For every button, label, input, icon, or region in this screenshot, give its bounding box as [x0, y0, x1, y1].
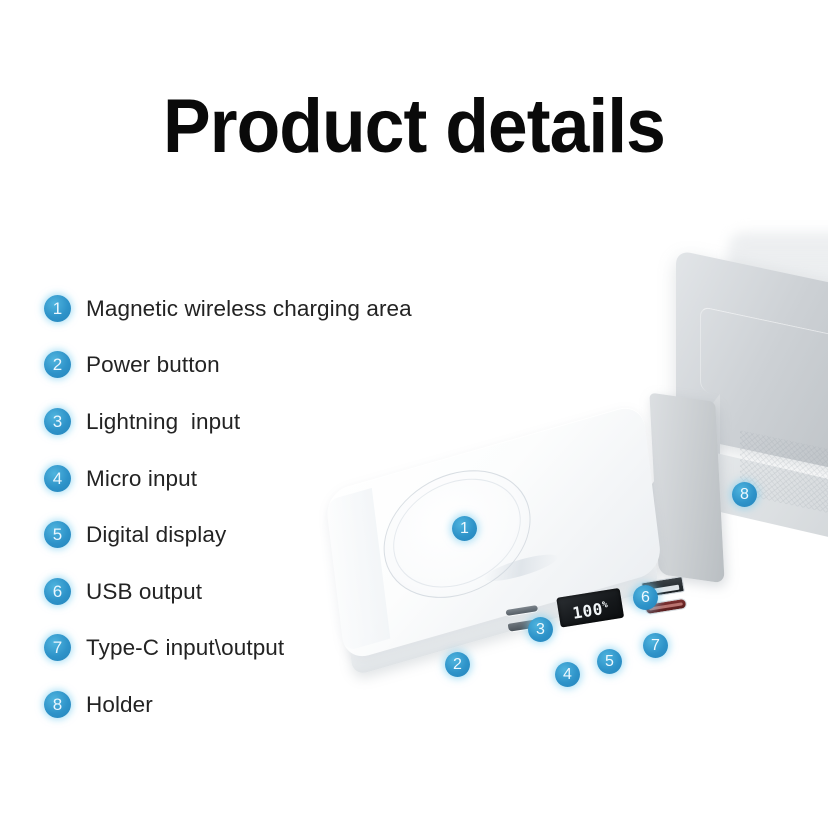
callout-badge-3: 3 — [528, 617, 553, 642]
callout-badge-7: 7 — [643, 633, 668, 658]
legend-badge-5: 5 — [44, 521, 71, 548]
legend-badge-4: 4 — [44, 465, 71, 492]
callout-badge-6: 6 — [633, 585, 658, 610]
legend-label-5: Digital display — [86, 521, 226, 548]
legend-badge-3: 3 — [44, 408, 71, 435]
legend-label-1: Magnetic wireless charging area — [86, 295, 412, 322]
power-bank-body — [325, 402, 666, 684]
legend-badge-8: 8 — [44, 691, 71, 718]
product-photo: 100% 1 2 3 4 5 6 7 8 — [300, 420, 828, 720]
power-bank-edge-shading — [314, 488, 390, 655]
legend-label-4: Micro input — [86, 465, 197, 492]
callout-badge-5: 5 — [597, 649, 622, 674]
callout-badge-4: 4 — [555, 662, 580, 687]
callout-badge-2: 2 — [445, 652, 470, 677]
page-title: Product details — [25, 82, 803, 172]
legend-badge-1: 1 — [44, 295, 71, 322]
legend-badge-6: 6 — [44, 578, 71, 605]
product-details-page: Product details 1 Magnetic wireless char… — [0, 0, 828, 827]
legend-label-6: USB output — [86, 578, 202, 605]
list-item: 1 Magnetic wireless charging area — [44, 280, 514, 337]
list-item: 2 Power button — [44, 337, 514, 394]
legend-label-7: Type-C input\output — [86, 634, 284, 661]
digital-display-screen: 100% — [556, 588, 624, 628]
legend-label-8: Holder — [86, 691, 153, 718]
callout-badge-8: 8 — [732, 482, 757, 507]
legend-label-3: Lightning input — [86, 408, 240, 435]
legend-badge-2: 2 — [44, 351, 71, 378]
legend-label-2: Power button — [86, 351, 220, 378]
callout-badge-1: 1 — [452, 516, 477, 541]
legend-badge-7: 7 — [44, 634, 71, 661]
lightning-port — [506, 605, 539, 616]
digital-display-unit: % — [601, 600, 608, 611]
digital-display-value: 100% — [556, 588, 624, 628]
